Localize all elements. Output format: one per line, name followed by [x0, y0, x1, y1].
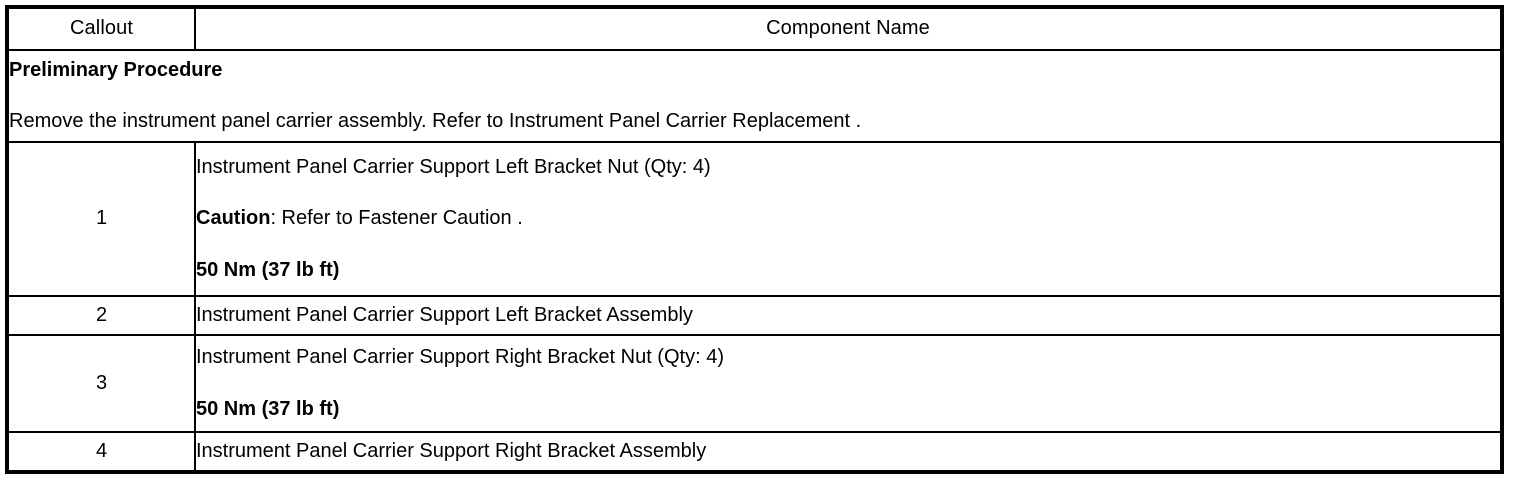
table-row: 1 Instrument Panel Carrier Support Left … — [7, 142, 1502, 296]
component-line: Instrument Panel Carrier Support Left Br… — [196, 304, 1500, 327]
preliminary-procedure-cell: Preliminary Procedure Remove the instrum… — [7, 50, 1502, 142]
preliminary-procedure-title: Preliminary Procedure — [9, 59, 1500, 82]
preliminary-procedure-row: Preliminary Procedure Remove the instrum… — [7, 50, 1502, 142]
document-page: Callout Component Name Preliminary Proce… — [0, 0, 1520, 488]
callout-number: 4 — [7, 432, 195, 472]
component-description: Instrument Panel Carrier Support Right B… — [195, 335, 1502, 432]
column-header-component-name: Component Name — [195, 7, 1502, 50]
component-description: Instrument Panel Carrier Support Right B… — [195, 432, 1502, 472]
caution-line: Caution: Refer to Fastener Caution . — [196, 207, 1500, 230]
column-header-callout: Callout — [7, 7, 195, 50]
callout-number: 1 — [7, 142, 195, 296]
table-row: 3 Instrument Panel Carrier Support Right… — [7, 335, 1502, 432]
caution-label: Caution — [196, 207, 270, 229]
preliminary-procedure-text: Remove the instrument panel carrier asse… — [9, 110, 1500, 133]
component-description: Instrument Panel Carrier Support Left Br… — [195, 142, 1502, 296]
table-header-row: Callout Component Name — [7, 7, 1502, 50]
component-line: Instrument Panel Carrier Support Left Br… — [196, 156, 1500, 179]
caution-text: : Refer to Fastener Caution . — [270, 207, 522, 229]
callout-number: 2 — [7, 296, 195, 335]
table-row: 2 Instrument Panel Carrier Support Left … — [7, 296, 1502, 335]
table-body: Preliminary Procedure Remove the instrum… — [7, 50, 1502, 472]
torque-spec: 50 Nm (37 lb ft) — [196, 398, 1500, 421]
component-parts-table: Callout Component Name Preliminary Proce… — [5, 5, 1504, 474]
table-header: Callout Component Name — [7, 7, 1502, 50]
component-line: Instrument Panel Carrier Support Right B… — [196, 440, 1500, 463]
component-description: Instrument Panel Carrier Support Left Br… — [195, 296, 1502, 335]
torque-spec: 50 Nm (37 lb ft) — [196, 259, 1500, 282]
component-line: Instrument Panel Carrier Support Right B… — [196, 346, 1500, 369]
callout-number: 3 — [7, 335, 195, 432]
table-row: 4 Instrument Panel Carrier Support Right… — [7, 432, 1502, 472]
